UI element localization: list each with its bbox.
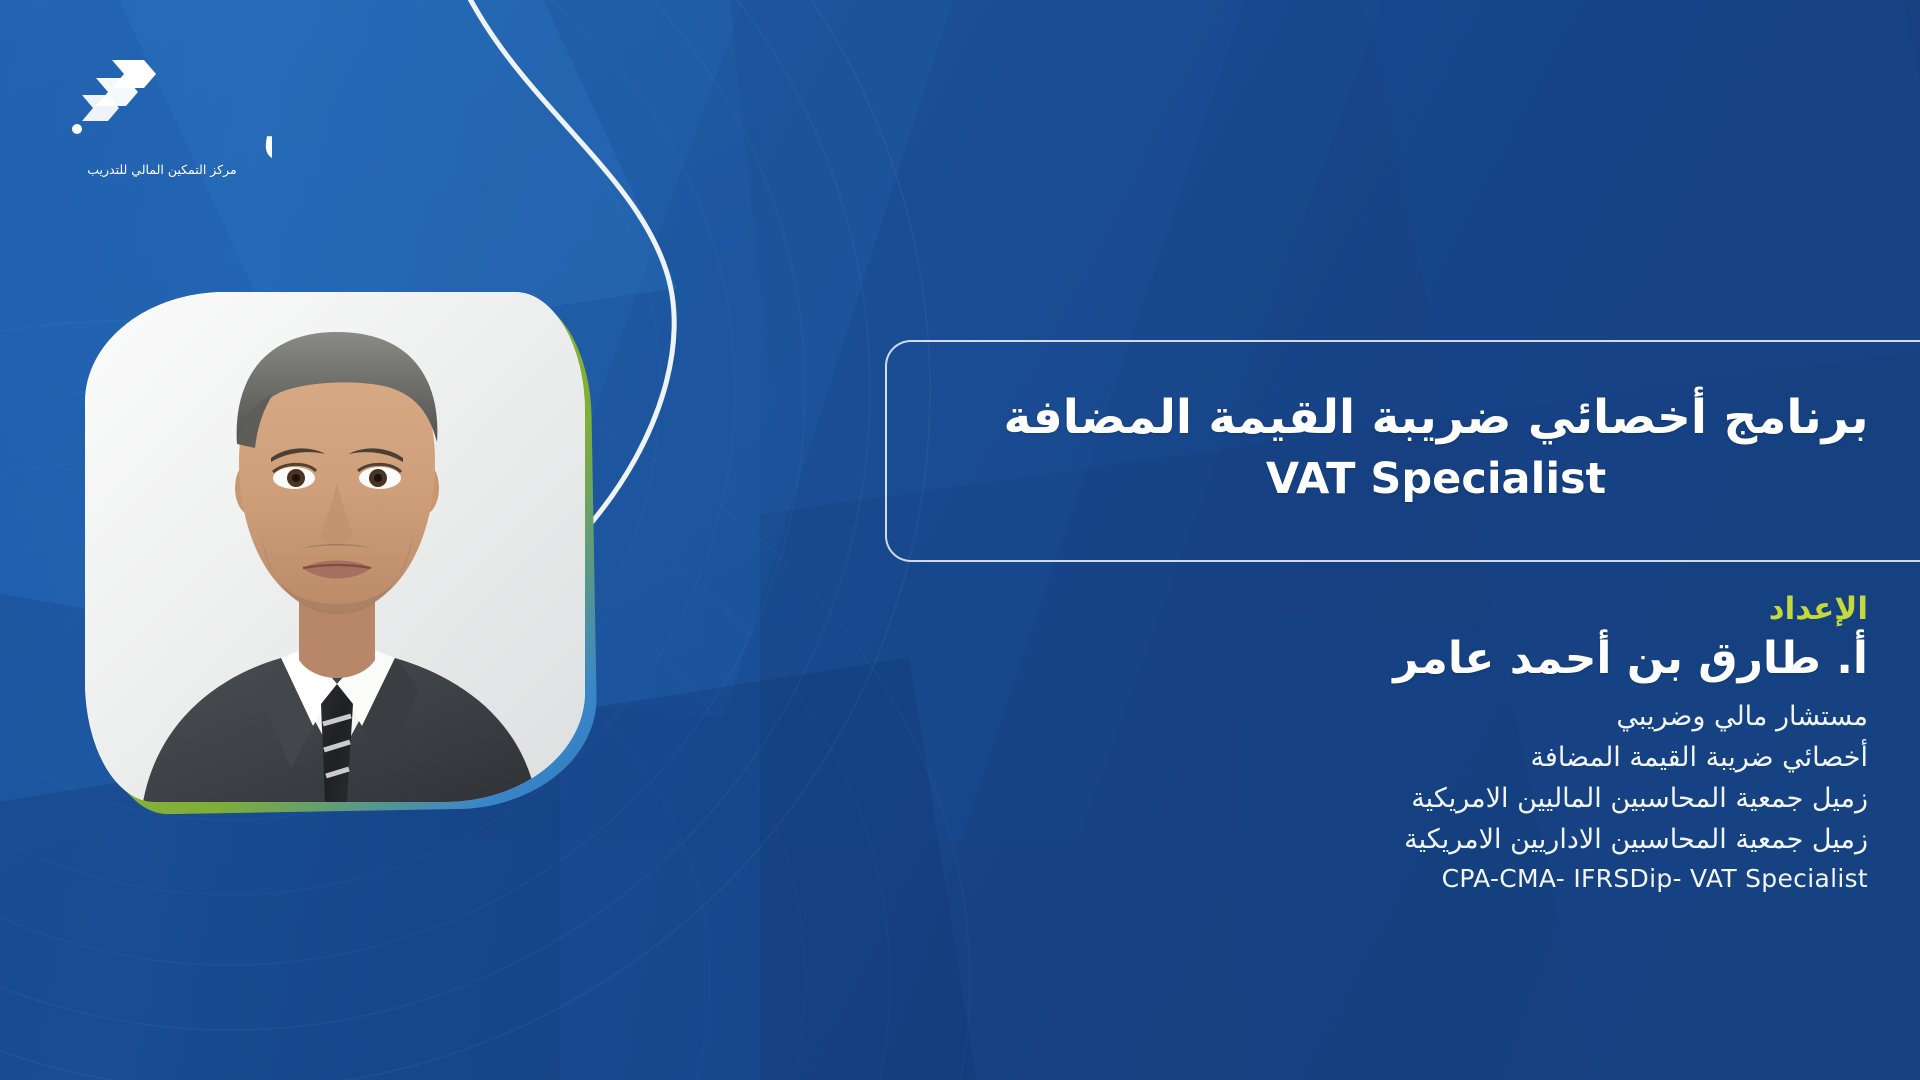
prepared-by-label: الإعداد <box>988 592 1868 626</box>
program-title-card: برنامج أخصائي ضريبة القيمة المضافة VAT S… <box>885 340 1920 562</box>
presenter-block: الإعداد أ. طارق بن أحمد عامر مستشار مالي… <box>988 592 1868 898</box>
logo-subtitle: مركز التمكين المالي للتدريب <box>52 162 272 177</box>
slide-canvas: تمكين مركز التمكين المالي للتدريب <box>0 0 1920 1080</box>
tamkeen-logo-icon: تمكين <box>52 42 272 162</box>
credential-line: أخصائي ضريبة القيمة المضافة <box>988 737 1868 778</box>
credential-line: زميل جمعية المحاسبين الاداريين الامريكية <box>988 819 1868 860</box>
portrait-frame <box>85 292 585 802</box>
program-title-english: VAT Specialist <box>1266 453 1606 507</box>
presenter-portrait <box>85 292 585 802</box>
program-title-arabic: برنامج أخصائي ضريبة القيمة المضافة <box>1003 389 1868 446</box>
brand-logo[interactable]: تمكين مركز التمكين المالي للتدريب <box>52 42 272 192</box>
certifications-line: CPA-CMA- IFRSDip- VAT Specialist <box>988 860 1868 898</box>
credential-line: مستشار مالي وضريبي <box>988 696 1868 737</box>
svg-text:تمكين: تمكين <box>262 88 272 161</box>
credential-line: زميل جمعية المحاسبين الماليين الامريكية <box>988 778 1868 819</box>
presenter-name: أ. طارق بن أحمد عامر <box>988 632 1868 686</box>
